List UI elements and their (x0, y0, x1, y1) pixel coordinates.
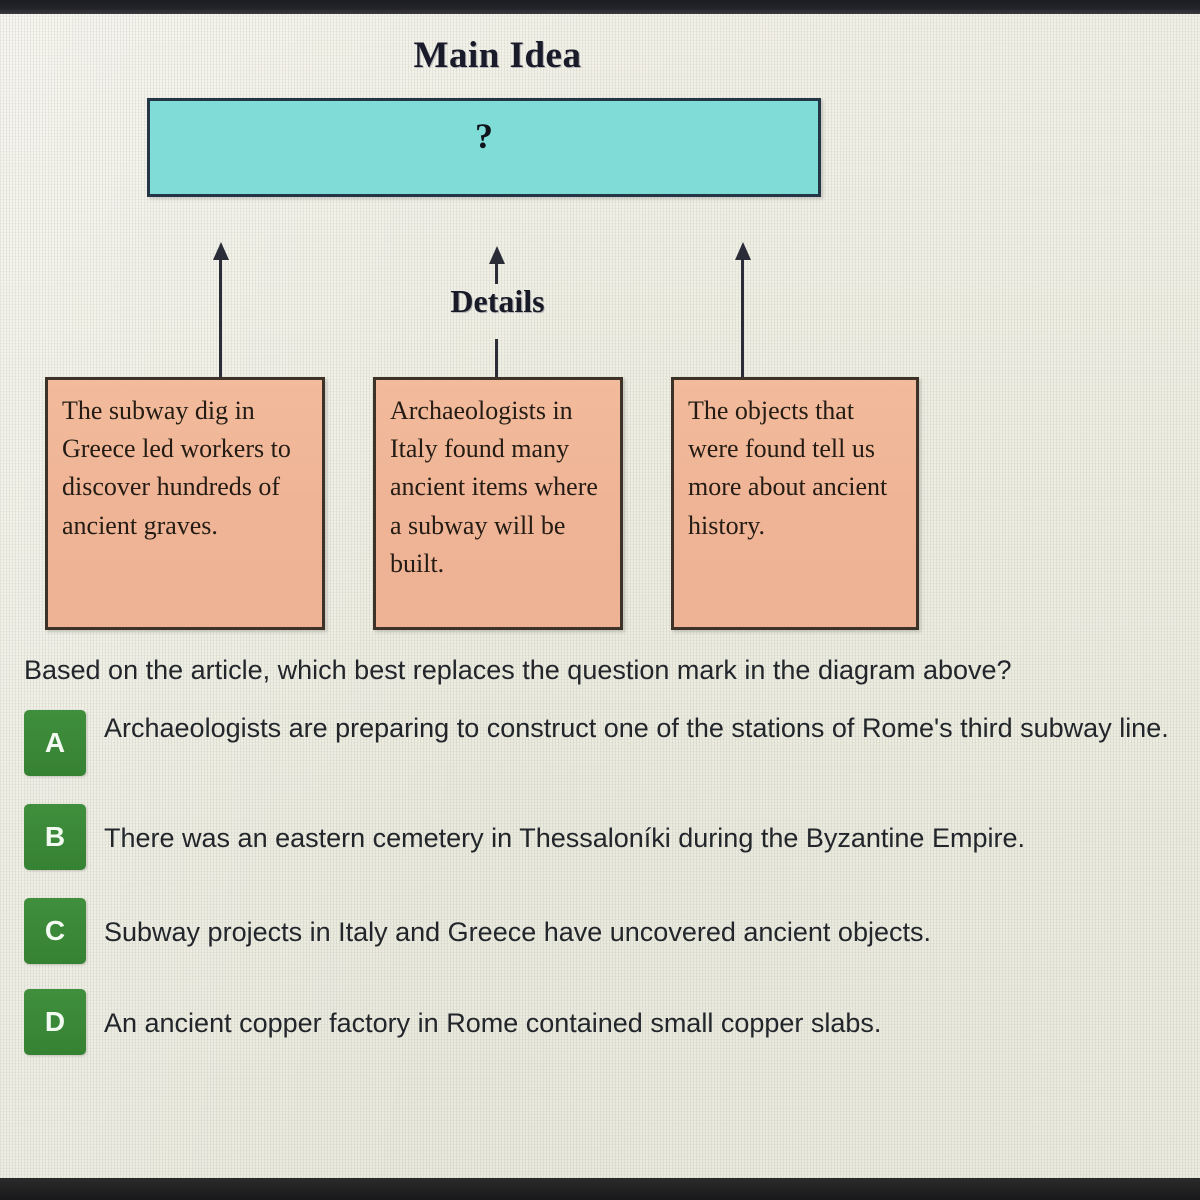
arrow-shaft-middle-lower (495, 339, 498, 379)
main-idea-box: ? (147, 98, 821, 197)
arrow-shaft-left (219, 258, 222, 379)
worksheet-page: Main Idea ? Details The subway dig in Gr… (0, 14, 1200, 1178)
answer-option-b[interactable]: B There was an eastern cemetery in Thess… (24, 804, 1025, 870)
answer-text-b[interactable]: There was an eastern cemetery in Thessal… (104, 804, 1025, 855)
answer-badge-b[interactable]: B (24, 804, 86, 870)
monitor-bezel-bottom (0, 1178, 1200, 1200)
answer-badge-d[interactable]: D (24, 989, 86, 1055)
arrow-shaft-middle-upper (495, 262, 498, 284)
answer-badge-c[interactable]: C (24, 898, 86, 964)
question-prompt: Based on the article, which best replace… (24, 655, 1012, 686)
arrow-shaft-right (741, 258, 744, 379)
answer-text-c[interactable]: Subway projects in Italy and Greece have… (104, 898, 931, 949)
answer-badge-a[interactable]: A (24, 710, 86, 776)
detail-box-1: The subway dig in Greece led workers to … (45, 377, 325, 630)
answer-option-a[interactable]: A Archaeologists are preparing to constr… (24, 710, 1200, 776)
detail-box-3: The objects that were found tell us more… (671, 377, 919, 630)
answer-option-c[interactable]: C Subway projects in Italy and Greece ha… (24, 898, 931, 964)
details-label: Details (375, 283, 620, 320)
screenshot-root: Main Idea ? Details The subway dig in Gr… (0, 0, 1200, 1200)
monitor-bezel-top (0, 0, 1200, 14)
main-idea-title: Main Idea (0, 34, 995, 77)
main-idea-question-mark: ? (150, 115, 818, 157)
answer-option-d[interactable]: D An ancient copper factory in Rome cont… (24, 989, 881, 1055)
answer-text-d[interactable]: An ancient copper factory in Rome contai… (104, 989, 881, 1040)
answer-text-a[interactable]: Archaeologists are preparing to construc… (104, 710, 1200, 745)
detail-box-2: Archaeologists in Italy found many ancie… (373, 377, 623, 630)
